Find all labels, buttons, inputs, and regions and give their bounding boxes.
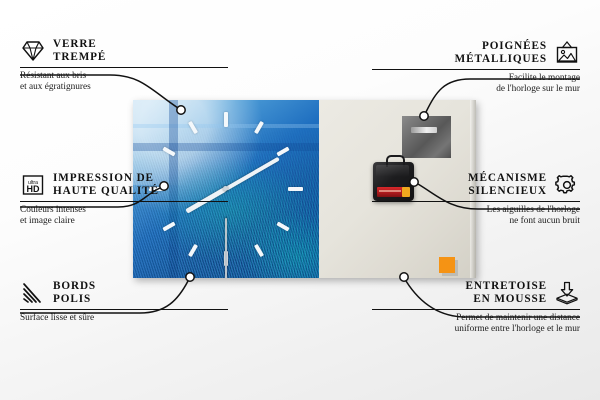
callout-title-line2: TREMPÉ: [53, 51, 106, 64]
callout-header: POIGNÉES MÉTALLIQUES: [372, 40, 580, 66]
polished-edge-stripes-icon: [20, 281, 46, 305]
foam-spacer: [439, 257, 455, 273]
svg-text:HD: HD: [27, 184, 40, 194]
callout-title-line1: MÉCANISME: [468, 172, 547, 185]
callout-subtitle-line1: Résistant aux bris: [20, 71, 228, 82]
callout-subtitle-line2: et aux égratignures: [20, 82, 228, 93]
gear-icon: [554, 173, 580, 197]
callout-header: BORDS POLIS: [20, 280, 228, 306]
callout-subtitle-line1: Surface lisse et sûre: [20, 313, 228, 324]
callout-verre-trempe: VERRE TREMPÉ Résistant aux bris et aux é…: [20, 38, 228, 93]
callout-mecanisme-silencieux: MÉCANISME SILENCIEUX Les aiguilles de l'…: [372, 172, 580, 227]
callout-header: VERRE TREMPÉ: [20, 38, 228, 64]
callout-subtitle-line1: Facilite le montage: [372, 73, 580, 84]
callout-rule: [372, 201, 580, 202]
callout-subtitle-line1: Couleurs intenses: [20, 205, 228, 216]
infographic-canvas: VERRE TREMPÉ Résistant aux bris et aux é…: [0, 0, 600, 400]
callout-subtitle-line2: et image claire: [20, 216, 228, 227]
callout-impression-haute-qualite: ultra HD IMPRESSION DE HAUTE QUALITÉ Cou…: [20, 172, 228, 227]
framed-picture-hanging-icon: [554, 41, 580, 65]
callout-title-line1: POIGNÉES: [455, 40, 547, 53]
callout-poignees-metalliques: POIGNÉES MÉTALLIQUES Facilite le montage…: [372, 40, 580, 95]
callout-title-line2: SILENCIEUX: [468, 185, 547, 198]
callout-rule: [20, 67, 228, 68]
callout-title-line2: POLIS: [53, 293, 96, 306]
callout-rule: [20, 201, 228, 202]
callout-title-line1: VERRE: [53, 38, 106, 51]
ultra-hd-badge-icon: ultra HD: [20, 173, 46, 197]
callout-title-line1: ENTRETOISE: [465, 280, 547, 293]
callout-rule: [372, 309, 580, 310]
callout-title-line2: MÉTALLIQUES: [455, 53, 547, 66]
callout-title-line1: IMPRESSION DE: [53, 172, 159, 185]
callout-bords-polis: BORDS POLIS Surface lisse et sûre: [20, 280, 228, 324]
callout-title-line2: HAUTE QUALITÉ: [53, 185, 159, 198]
callout-rule: [372, 69, 580, 70]
callout-rule: [20, 309, 228, 310]
callout-subtitle-line2: ne font aucun bruit: [372, 216, 580, 227]
callout-header: MÉCANISME SILENCIEUX: [372, 172, 580, 198]
callout-entretoise-en-mousse: ENTRETOISE EN MOUSSE Permet de maintenir…: [372, 280, 580, 335]
callout-header: ENTRETOISE EN MOUSSE: [372, 280, 580, 306]
hour-marker: [224, 112, 228, 127]
callout-subtitle-line2: de l'horloge sur le mur: [372, 84, 580, 95]
bracket-slot: [411, 127, 437, 133]
callout-title-line1: BORDS: [53, 280, 96, 293]
callout-header: ultra HD IMPRESSION DE HAUTE QUALITÉ: [20, 172, 228, 198]
callout-subtitle-line2: uniforme entre l'horloge et le mur: [372, 324, 580, 335]
metal-hanging-bracket: [402, 116, 451, 158]
hour-marker: [288, 187, 303, 191]
callout-subtitle-line1: Les aiguilles de l'horloge: [372, 205, 580, 216]
diamond-icon: [20, 39, 46, 63]
callout-subtitle-line1: Permet de maintenir une distance: [372, 313, 580, 324]
callout-title-line2: EN MOUSSE: [465, 293, 547, 306]
arrow-down-onto-foam-pad-icon: [554, 281, 580, 305]
